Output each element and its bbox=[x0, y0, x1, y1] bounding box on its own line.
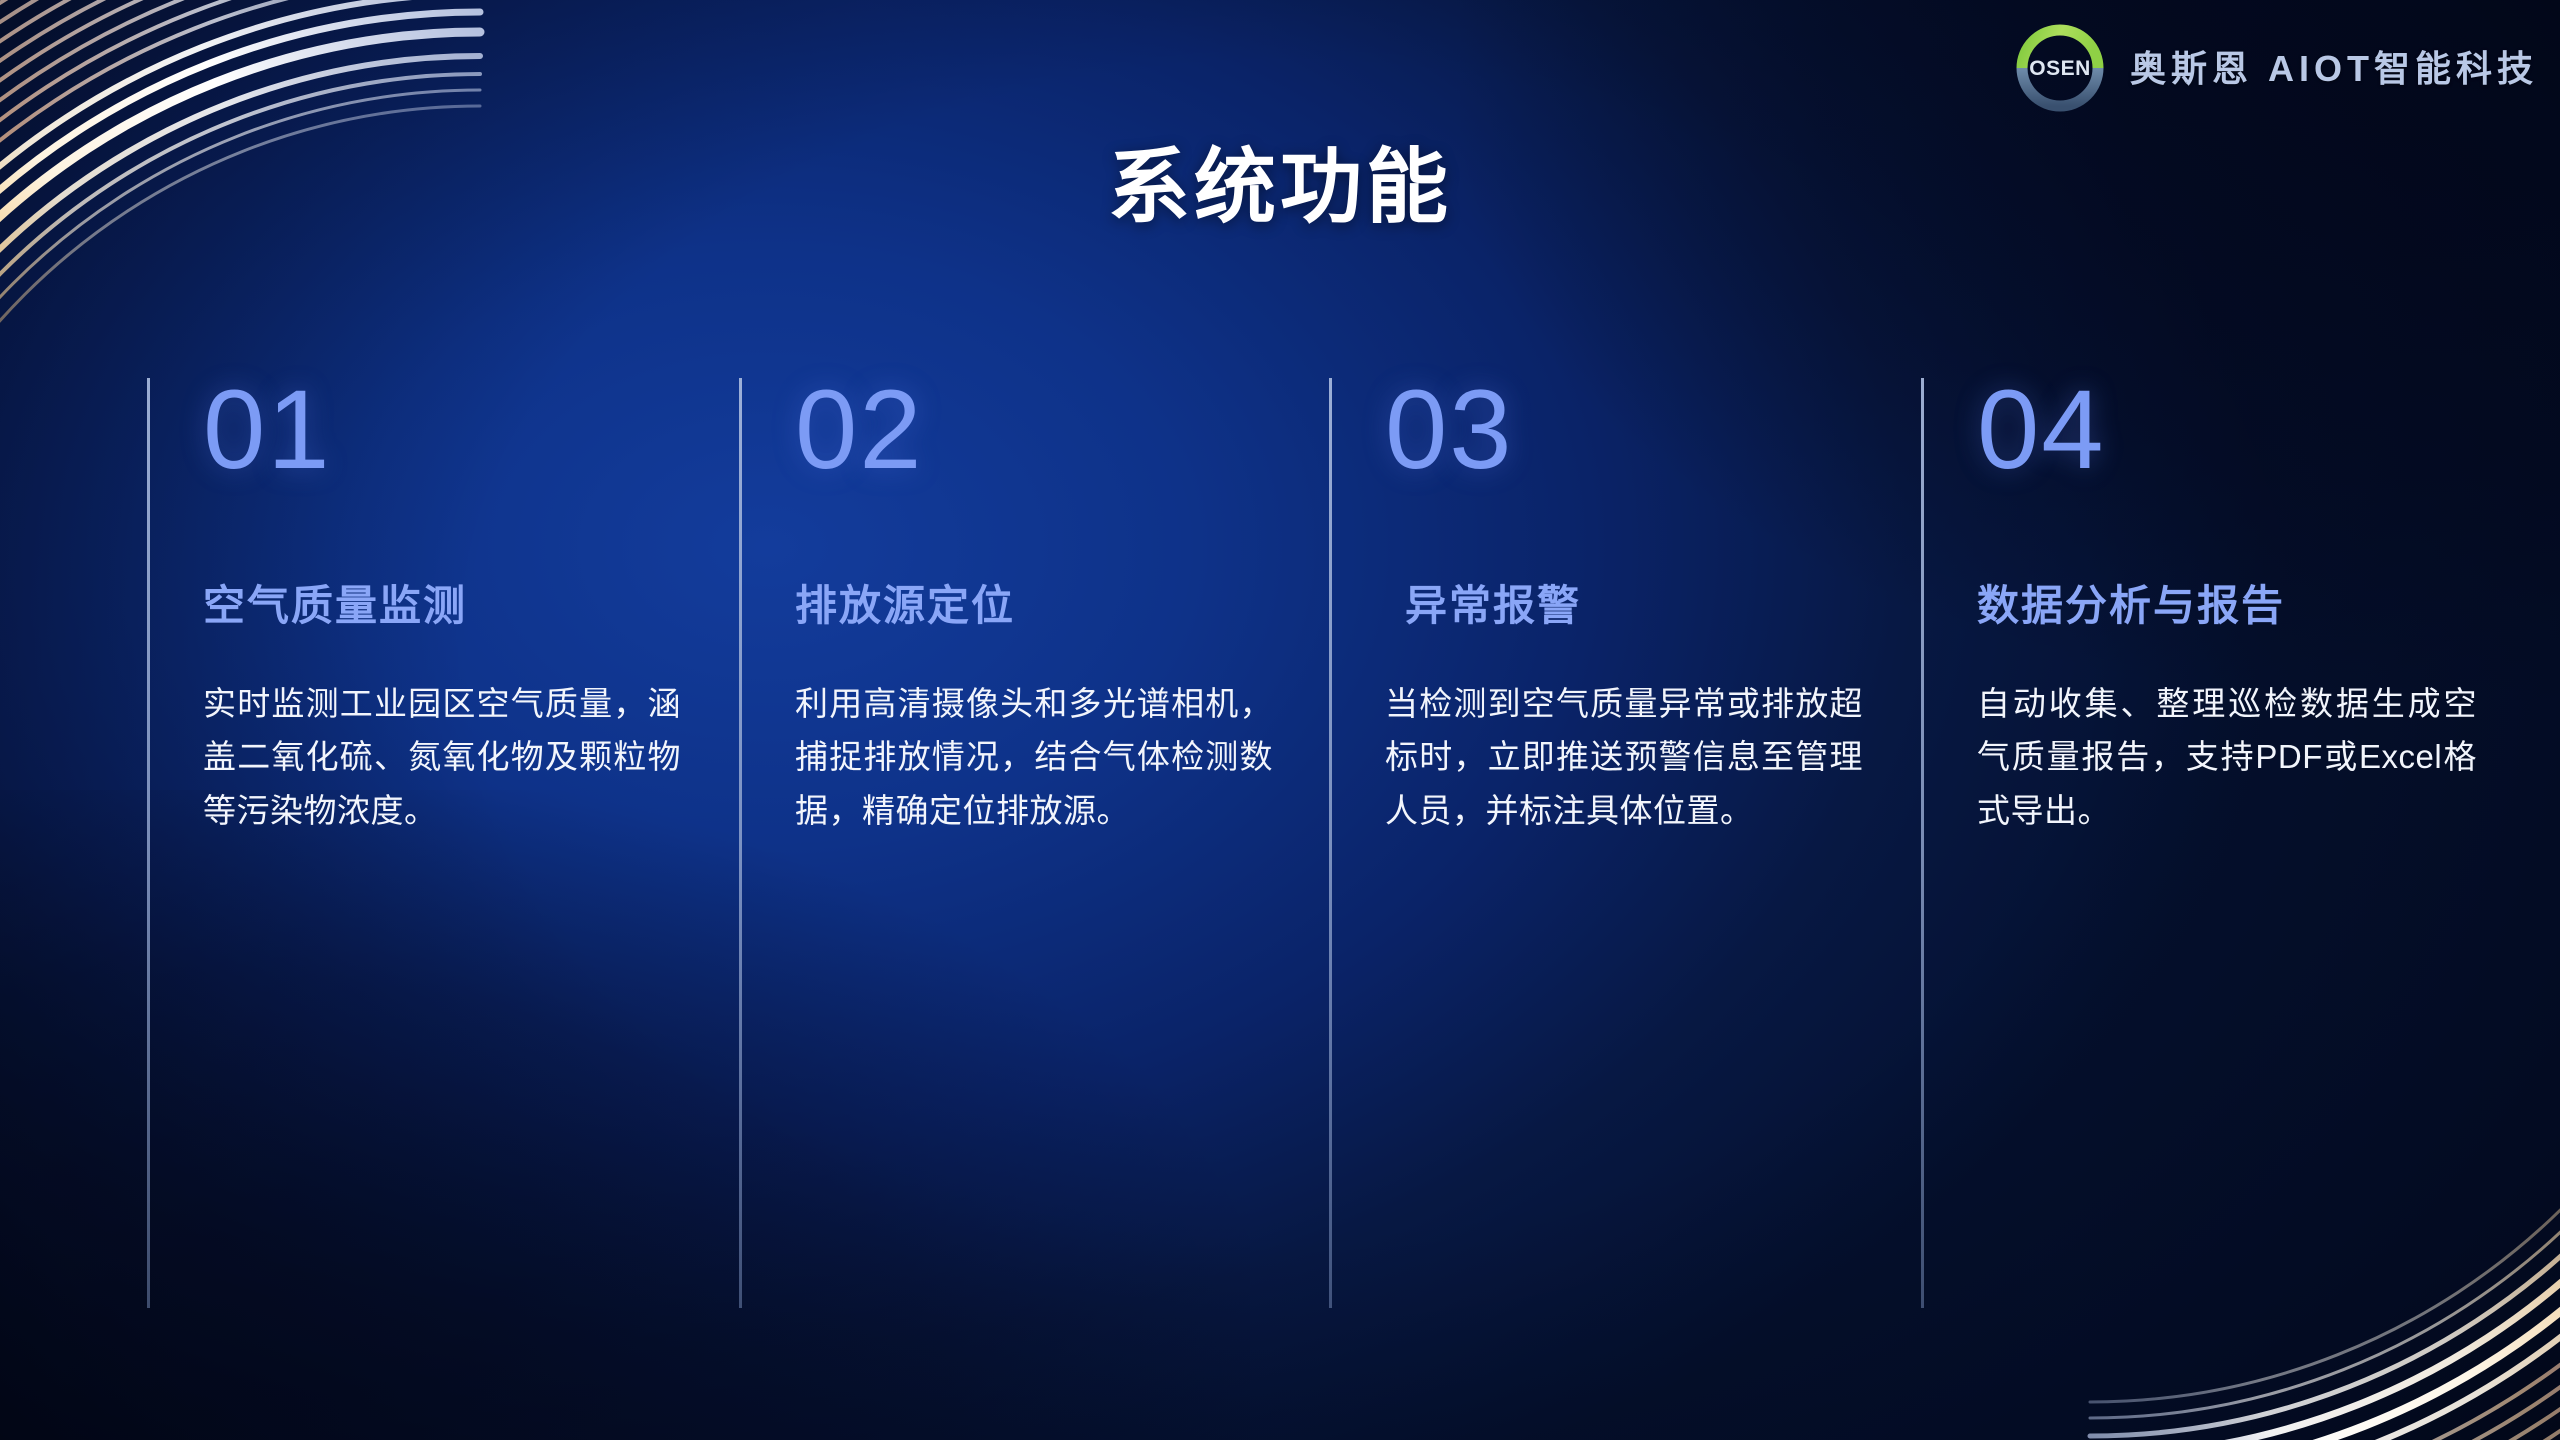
column-body-text: 实时监测工业园区空气质量，涵盖二氧化硫、氮氧化物及颗粒物等污染物浓度。 bbox=[203, 677, 681, 837]
column-divider bbox=[1329, 378, 1332, 1308]
feature-column-04: 04 数据分析与报告 自动收集、整理巡检数据生成空气质量报告，支持PDF或Exc… bbox=[1921, 370, 2521, 1320]
feature-column-01: 01 空气质量监测 实时监测工业园区空气质量，涵盖二氧化硫、氮氧化物及颗粒物等污… bbox=[147, 370, 739, 1320]
osen-ring-icon: OSEN bbox=[2012, 18, 2108, 114]
column-divider bbox=[147, 378, 150, 1308]
column-number: 01 bbox=[203, 374, 739, 486]
column-heading: 异常报警 bbox=[1405, 572, 1921, 633]
column-divider bbox=[1921, 378, 1924, 1308]
column-number: 03 bbox=[1385, 374, 1921, 486]
column-body-text: 自动收集、整理巡检数据生成空气质量报告，支持PDF或Excel格式导出。 bbox=[1977, 677, 2477, 837]
brand-name: 奥斯恩 AIOT智能科技 bbox=[2130, 40, 2538, 92]
page-title: 系统功能 bbox=[0, 120, 2560, 239]
column-heading: 数据分析与报告 bbox=[1977, 572, 2521, 633]
brand-logo: OSEN 奥斯恩 AIOT智能科技 bbox=[2012, 18, 2538, 114]
column-body-text: 利用高清摄像头和多光谱相机，捕捉排放情况，结合气体检测数据，精确定位排放源。 bbox=[795, 677, 1273, 837]
feature-column-02: 02 排放源定位 利用高清摄像头和多光谱相机，捕捉排放情况，结合气体检测数据，精… bbox=[739, 370, 1329, 1320]
column-number: 04 bbox=[1977, 374, 2521, 486]
feature-columns: 01 空气质量监测 实时监测工业园区空气质量，涵盖二氧化硫、氮氧化物及颗粒物等污… bbox=[0, 370, 2560, 1320]
svg-text:OSEN: OSEN bbox=[2029, 57, 2091, 80]
slide-root: OSEN 奥斯恩 AIOT智能科技 系统功能 01 空气质量监测 实时监测工业园… bbox=[0, 0, 2560, 1440]
column-divider bbox=[739, 378, 742, 1308]
column-body-text: 当检测到空气质量异常或排放超标时，立即推送预警信息至管理人员，并标注具体位置。 bbox=[1385, 677, 1863, 837]
column-number: 02 bbox=[795, 374, 1329, 486]
column-heading: 排放源定位 bbox=[795, 572, 1329, 633]
column-heading: 空气质量监测 bbox=[203, 572, 739, 633]
feature-column-03: 03 异常报警 当检测到空气质量异常或排放超标时，立即推送预警信息至管理人员，并… bbox=[1329, 370, 1921, 1320]
